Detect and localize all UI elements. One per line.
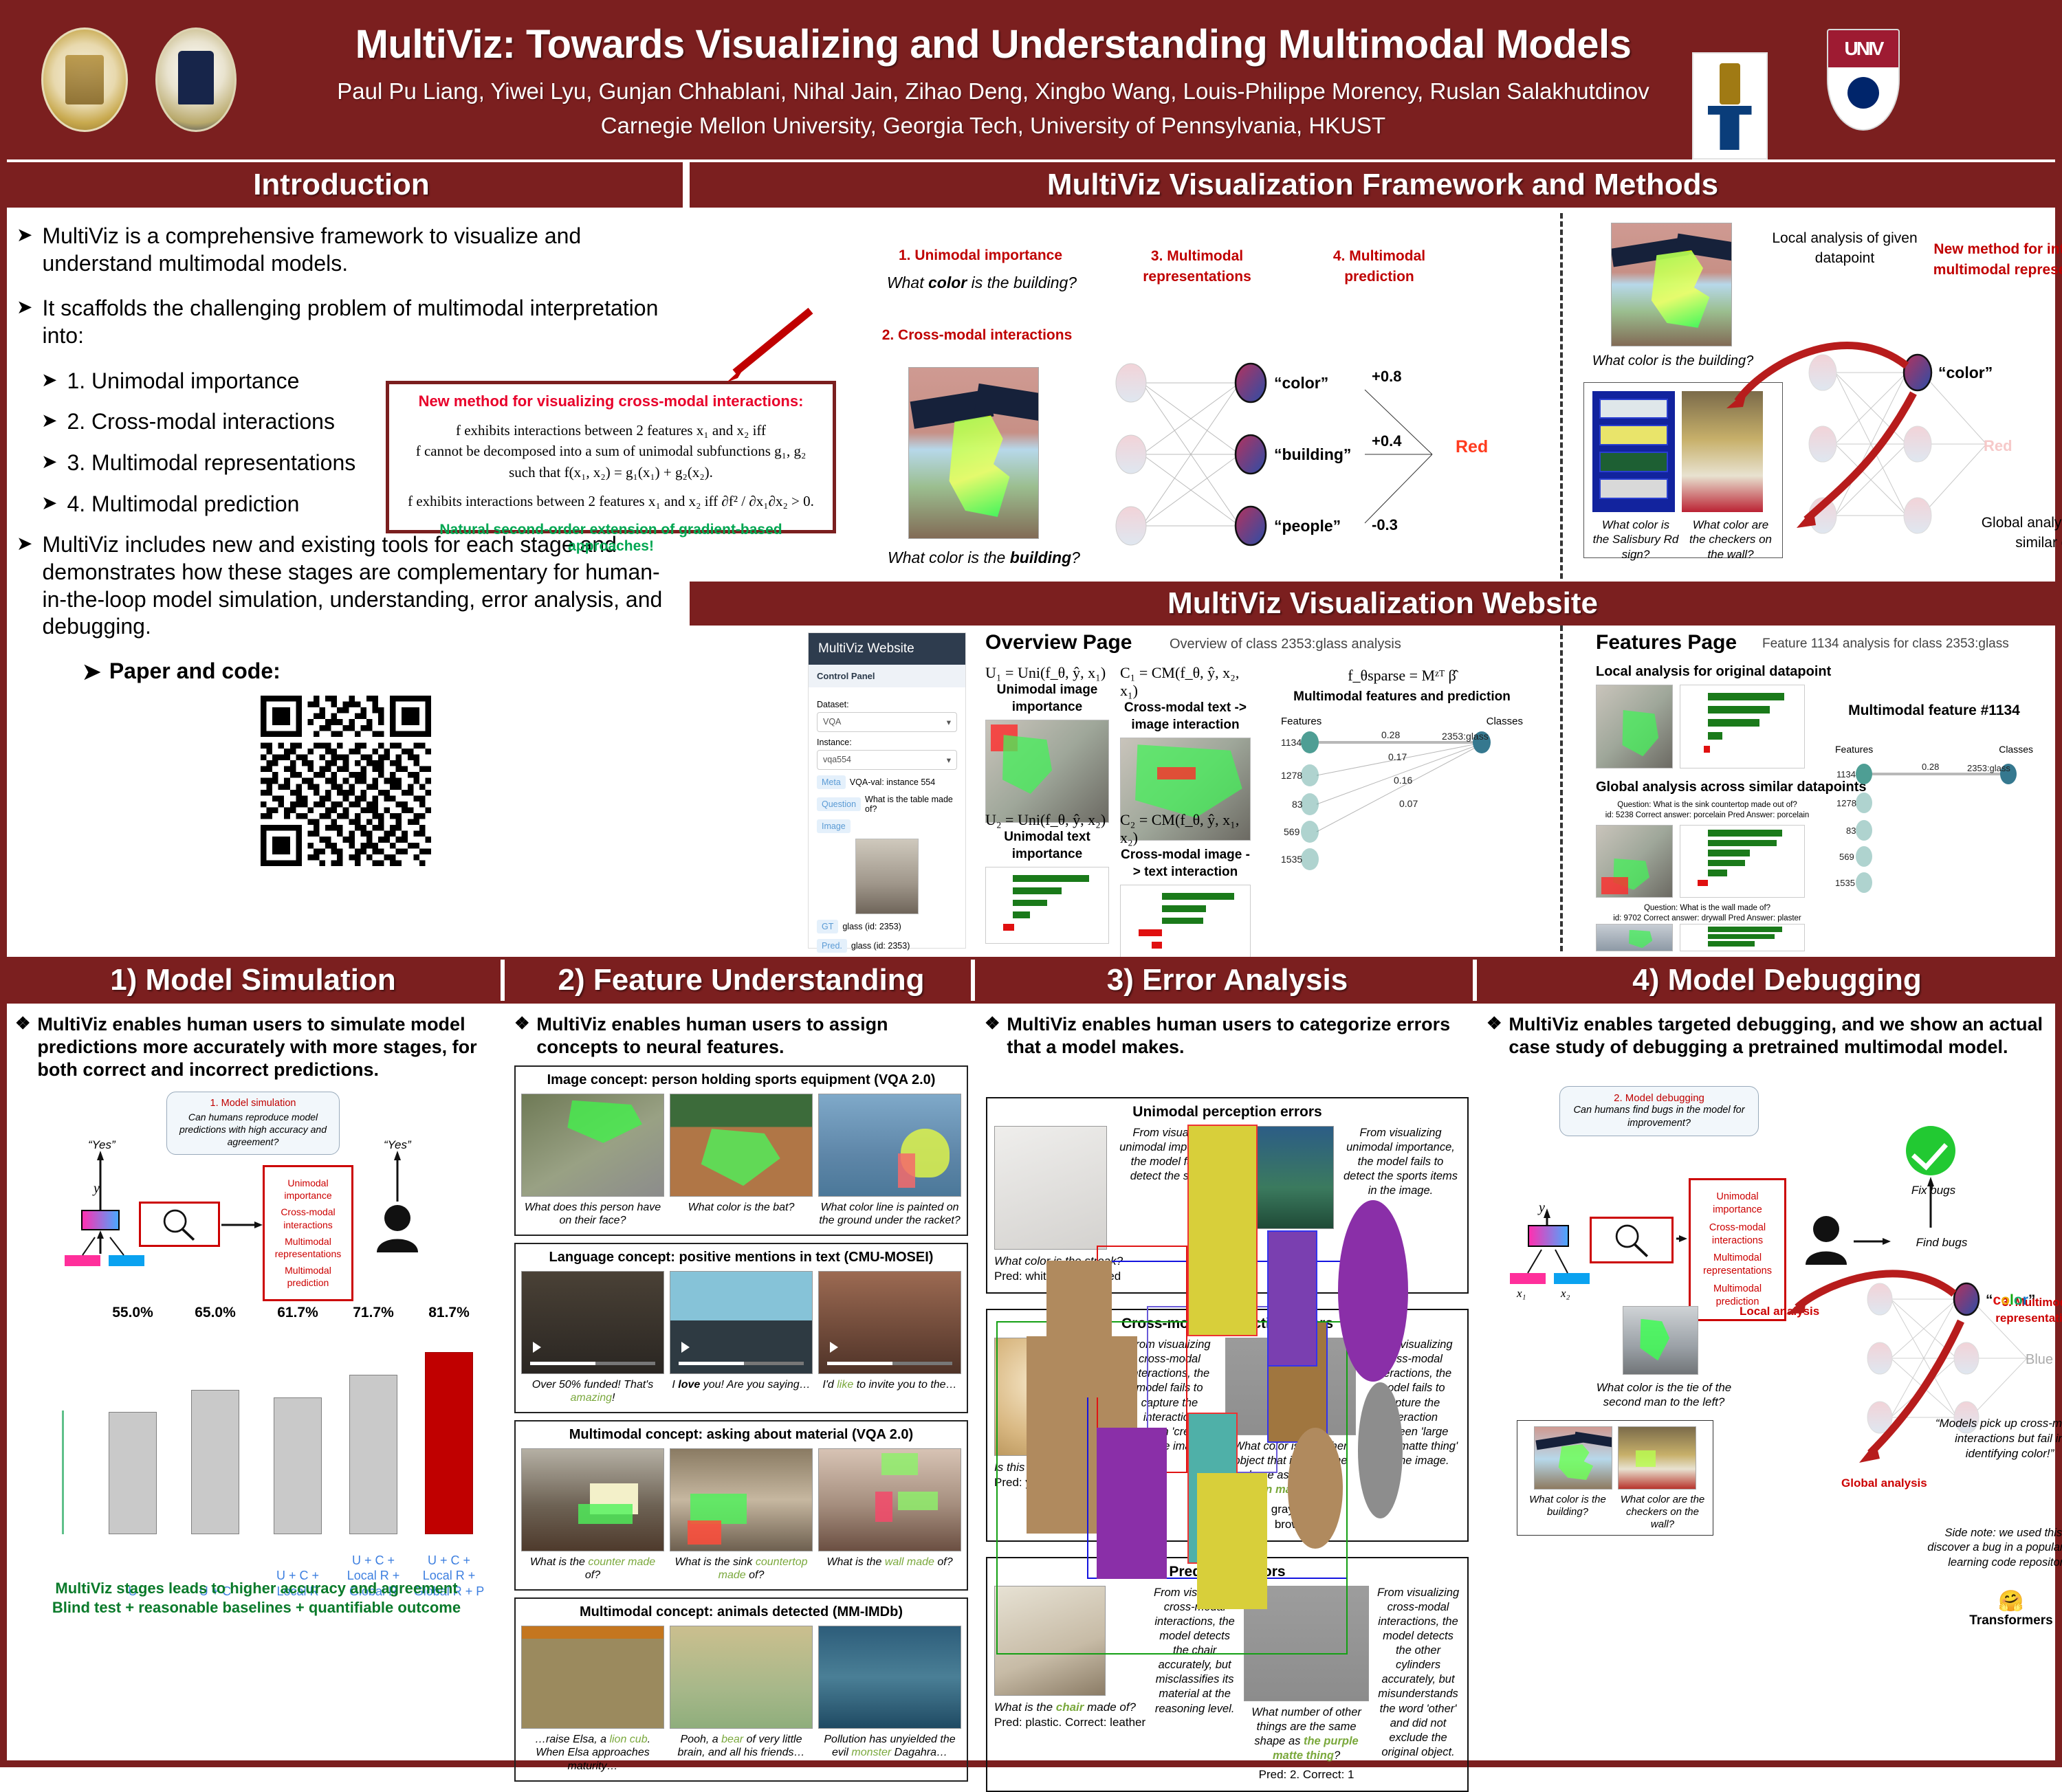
multimodal-model-bar [81, 1210, 120, 1230]
u1-block: U₁ = Uni(f_θ, ŷ, x₁) Unimodal image impo… [985, 664, 1109, 823]
prediction-errors-box: Prediction errors What is the chair made… [986, 1557, 1469, 1792]
c1-label: Cross-modal text -> image interaction [1120, 700, 1251, 733]
yes-label-right: “Yes” [384, 1138, 411, 1152]
bar-value-2: 61.7% [260, 1305, 336, 1321]
language-caption-2: I love you! Are you saying… [670, 1378, 813, 1392]
features-page-subtitle: Feature 1134 analysis for class 2353:gla… [1762, 637, 2009, 652]
u2-label: Unimodal text importance [985, 829, 1109, 863]
unimodal-errors-right-text: From visualizing unimodal importance, th… [1341, 1126, 1460, 1199]
debug-callout-text: Can humans find bugs in the model for im… [1567, 1104, 1751, 1130]
classes-column-header: Classes [1487, 716, 1523, 727]
animal-poster-1 [521, 1626, 664, 1729]
c2-bar-chart [1120, 885, 1251, 962]
bar-4 [425, 1352, 473, 1534]
similar-answer-2: id: 9702 Correct answer: drywall Pred An… [1604, 914, 1810, 924]
svg-text:1278: 1278 [1281, 770, 1302, 781]
magnifier-icon [141, 1204, 218, 1245]
similar-question-1: Question: What is the sink countertop ma… [1604, 800, 1810, 810]
intro-bullet-1: ➤ MultiViz is a comprehensive framework … [17, 223, 674, 277]
debug-x1-label: x₁ [1517, 1287, 1526, 1301]
local-analysis-caption: What color is the building? [1583, 353, 1762, 369]
u1-heatmap-image [985, 720, 1109, 823]
stage-1-question: What color is the building? [862, 274, 1102, 292]
website-control-panel[interactable]: MultiViz Website Control Panel Dataset: … [808, 632, 966, 949]
local-analysis-row [1596, 685, 1805, 768]
svg-text:+0.8: +0.8 [1372, 368, 1401, 385]
svg-text:0.16: 0.16 [1394, 775, 1412, 786]
image-row: Image [817, 819, 957, 833]
stage-2-label: 2. Cross-modal interactions [853, 327, 1101, 344]
feature-1134-graph: 11341278835691535 0.282353:glass [1831, 760, 2051, 898]
svg-text:0.07: 0.07 [1399, 798, 1418, 809]
red-arrow-icon [714, 307, 818, 389]
similar-caption-2: What color are the checkers on the wall? [1687, 518, 1774, 562]
gt-tag: GT [817, 920, 838, 933]
question-row: Question What is the table made of? [817, 795, 957, 814]
language-video-2[interactable] [670, 1271, 813, 1374]
column-divider-3 [1473, 960, 1477, 1001]
material-photo-1 [521, 1448, 664, 1551]
debug-global-caption-1: What color is the building? [1523, 1494, 1612, 1531]
dataset-value: VQA [823, 717, 841, 727]
svg-text:“people”: “people” [1274, 517, 1341, 535]
framework-image-caption: What color is the building? [860, 549, 1108, 567]
image-concept-photo-3 [818, 1094, 961, 1197]
pizza-wall-image [1682, 391, 1763, 512]
debug-local-analysis-label: Local analysis [1740, 1305, 1819, 1318]
framework-prediction: Red [1456, 437, 1488, 457]
language-video-3[interactable] [818, 1271, 961, 1374]
bedroom-image [994, 1586, 1106, 1696]
arrow-bullet-icon: ➤ [17, 531, 32, 641]
debug-local-caption: What color is the tie of the second man … [1581, 1380, 1746, 1410]
meta-row: Meta VQA-val: instance 554 [817, 775, 957, 789]
column-model-simulation: ❖ MultiViz enables human users to simula… [7, 1004, 506, 1760]
svg-text:1278: 1278 [1836, 798, 1856, 808]
introduction-body: ➤ MultiViz is a comprehensive framework … [7, 210, 684, 951]
global-row-1 [1596, 825, 1805, 898]
svg-text:“color”: “color” [1986, 1292, 2035, 1308]
global-row-2 [1596, 924, 1805, 951]
section-header-error-analysis: 3) Error Analysis [976, 957, 1478, 1004]
svg-text:1535: 1535 [1835, 878, 1855, 888]
website-panel-title: MultiViz Website [809, 633, 965, 665]
magnifier-icon [1592, 1219, 1671, 1261]
diamond-bullet-icon: ❖ [15, 1013, 30, 1081]
vertical-dashed-divider [1560, 213, 1563, 579]
image-tag: Image [817, 819, 851, 833]
intro-bullet-2: ➤ It scaffolds the challenging problem o… [17, 295, 674, 349]
multimodal-material-box: Multimodal concept: asking about materia… [514, 1420, 968, 1591]
section-header-model-simulation: 1) Model Simulation [0, 957, 506, 1004]
hugging-face-icon: 🤗 [1960, 1589, 2062, 1613]
bar-0 [109, 1412, 157, 1534]
similar-datapoints-box: What color is the Salisbury Rd sign? Wha… [1583, 382, 1783, 558]
animal-caption-2: Pooh, a bear of very little brain, and a… [670, 1733, 813, 1760]
pred-value: glass (id: 2353) [851, 941, 910, 951]
c2-label: Cross-modal image -> text interaction [1120, 847, 1251, 881]
pred-tag: Pred. [817, 939, 847, 953]
website-showcase: MultiViz Website Control Panel Dataset: … [690, 626, 2062, 951]
title-banner: MultiViz: Towards Visualizing and Unders… [0, 0, 2062, 159]
instance-thumbnail [855, 839, 919, 914]
accuracy-bar-chart: 55.0% 65.0% 61.7% 71.7% 81.7% U U + C U … [7, 1292, 506, 1622]
building-heatmap-image [908, 367, 1039, 539]
language-video-1[interactable] [521, 1271, 664, 1374]
local-datapoint-image [1596, 685, 1673, 768]
green-check-icon [1906, 1126, 1955, 1175]
global-analysis-label: Global analysis by retrieving similar da… [1968, 513, 2062, 553]
features-page-title: Features Page [1596, 631, 1737, 654]
arrow-bullet-icon: ➤ [17, 295, 32, 349]
upenn-logo: UNIV [1827, 29, 1900, 131]
multimodal-feature-title: Multimodal feature #1134 [1831, 701, 2037, 720]
modality-x2-bar [109, 1255, 144, 1266]
section-header-feature-understanding: 2) Feature Understanding [506, 957, 976, 1004]
animal-poster-2 [670, 1626, 813, 1729]
diamond-bullet-icon: ❖ [1487, 1013, 1502, 1059]
multimodal-material-title: Multimodal concept: asking about materia… [521, 1427, 961, 1443]
streak-image [994, 1126, 1107, 1250]
instance-select[interactable]: vqa554 ▾ [817, 750, 957, 770]
similar-answer-1: id: 5238 Correct answer: porcelain Pred … [1604, 810, 1810, 821]
svg-text:569: 569 [1284, 826, 1300, 837]
chart-axis-arrow [62, 1411, 64, 1534]
image-concept-photo-1 [521, 1094, 664, 1197]
debug-x2-label: x₂ [1561, 1287, 1570, 1301]
poster-root: MultiViz: Towards Visualizing and Unders… [0, 0, 2062, 1767]
svg-text:569: 569 [1839, 852, 1854, 862]
stage-multimodal-representations: Multimodal representations [267, 1235, 349, 1260]
sparse-feature-block: f_θsparse = Mᶻᵀ β̂ Multimodal features a… [1271, 667, 1533, 875]
svg-text:2353:glass: 2353:glass [1442, 731, 1489, 742]
animal-poster-3 [818, 1626, 961, 1729]
model-simulation-lead: ❖ MultiViz enables human users to simula… [7, 1004, 506, 1081]
stage-unimodal-importance: Unimodal importance [267, 1177, 349, 1202]
debug-global-caption-2: What color are the checkers on the wall? [1618, 1494, 1707, 1531]
features-column-header-2: Features [1835, 744, 1873, 755]
debug-x2-bar [1554, 1273, 1590, 1284]
unimodal-errors-title: Unimodal perception errors [994, 1104, 1460, 1120]
website-dashed-divider [1560, 626, 1563, 951]
local-analysis-heading: Local analysis for original datapoint [1596, 664, 1831, 680]
yes-label-left: “Yes” [88, 1138, 116, 1152]
instance-value: vqa554 [823, 755, 851, 765]
bar-value-0: 55.0% [95, 1305, 171, 1321]
model-simulation-note: MultiViz stages leads to higher accuracy… [7, 1579, 506, 1618]
magnifier-box [139, 1202, 220, 1247]
column-divider-1 [501, 960, 505, 1001]
debug-local-image [1623, 1306, 1698, 1375]
arrow-bullet-icon: ➤ [41, 450, 57, 477]
material-caption-1: What is the counter made of? [521, 1556, 664, 1582]
find-bugs-label: Find bugs [1900, 1236, 1983, 1250]
sparse-equation: f_θsparse = Mᶻᵀ β̂ [1271, 667, 1533, 685]
similar-question-2: Question: What is the wall made of? [1604, 903, 1810, 914]
question-tag: Question [817, 797, 861, 811]
header-divider [684, 165, 688, 205]
model-debugging-callout: 2. Model debugging Can humans find bugs … [1559, 1086, 1759, 1136]
qr-code[interactable] [261, 696, 431, 866]
georgia-tech-logo [155, 27, 237, 132]
svg-text:Blue: Blue [2026, 1352, 2053, 1367]
bar-value-4: 81.7% [411, 1305, 487, 1321]
y-output-label: y [94, 1181, 100, 1197]
arrow-bullet-icon: ➤ [41, 408, 57, 436]
bar-value-1: 65.0% [177, 1305, 253, 1321]
material-caption-3: What is the wall made of? [818, 1556, 961, 1569]
model-debugging-lead: ❖ MultiViz enables targeted debugging, a… [1478, 1004, 2062, 1059]
language-caption-3: I'd like to invite you to the… [818, 1378, 961, 1392]
error-analysis-lead: ❖ MultiViz enables human users to catego… [976, 1004, 1478, 1059]
debug-y-label: y [1539, 1200, 1545, 1216]
author-list: Paul Pu Liang, Yiwei Lyu, Gunjan Chhabla… [244, 78, 1743, 104]
stage-3-label: 3. Multimodal representations [1108, 246, 1286, 288]
multimodal-animals-box: Multimodal concept: animals detected (MM… [514, 1597, 968, 1782]
svg-text:2353:glass: 2353:glass [1967, 763, 2010, 773]
debug-magnifier-box [1590, 1217, 1674, 1263]
column-model-debugging: ❖ MultiViz enables targeted debugging, a… [1478, 1004, 2062, 1760]
arrow-bullet-icon: ➤ [41, 368, 57, 395]
gt-row: GT glass (id: 2353) [817, 920, 957, 933]
street-signs-image [1592, 391, 1675, 512]
person-icon [375, 1204, 419, 1252]
image-concept-box: Image concept: person holding sports equ… [514, 1065, 968, 1236]
instance-label: Instance: [817, 738, 957, 747]
fix-bugs-label: Fix bugs [1892, 1184, 1975, 1197]
local-analysis-label: Local analysis of given datapoint [1762, 228, 1927, 269]
similar-image-1 [1596, 825, 1673, 898]
stage-1-label: 1. Unimodal importance [867, 247, 1094, 264]
svg-text:“building”: “building” [1274, 445, 1351, 463]
multimodal-features-label: Multimodal features and prediction [1271, 689, 1533, 706]
clevr-pred-2: Pred: 2. Correct: 1 [1244, 1767, 1369, 1782]
svg-text:0.17: 0.17 [1388, 751, 1407, 762]
svg-text:Red: Red [1984, 437, 2012, 454]
neural-network-diagram: “color” “building” “people” +0.8 +0.4 -0… [1109, 358, 1467, 551]
feature-class-graph: 1134127883 5691535 0.280.170.160.07 2353… [1271, 727, 1533, 872]
material-photo-2 [670, 1448, 813, 1551]
debug-x1-bar [1510, 1273, 1546, 1284]
debug-global-analysis-label: Global analysis [1841, 1476, 1927, 1490]
model-simulation-callout: 1. Model simulation Can humans reproduce… [166, 1092, 340, 1155]
question-value: What is the table made of? [865, 795, 957, 814]
arrow-bullet-icon: ➤ [83, 659, 101, 685]
svg-text:+0.4: +0.4 [1372, 432, 1402, 450]
affiliation-list: Carnegie Mellon University, Georgia Tech… [244, 113, 1743, 139]
debug-stage-box: Unimodal importance Cross-modal interact… [1689, 1178, 1786, 1321]
diamond-bullet-icon: ❖ [985, 1013, 1000, 1059]
clevr-question-2: What number of other things are the same… [1244, 1705, 1369, 1763]
pred-row: Pred. glass (id: 2353) [817, 939, 957, 953]
framework-diagram: 1. Unimodal importance What color is the… [690, 210, 2062, 582]
svg-text:“color”: “color” [1274, 374, 1328, 392]
callout-title: 1. Model simulation [174, 1098, 332, 1109]
debug-side-note: Side note: we used this to discover a bu… [1924, 1526, 2062, 1570]
stage-multimodal-prediction: Multimodal prediction [267, 1264, 349, 1289]
arrow-bullet-icon: ➤ [17, 223, 32, 277]
bar-2 [274, 1397, 322, 1534]
debug-pizza-image [1618, 1426, 1696, 1490]
multiviz-stage-box: Unimodal importance Cross-modal interact… [263, 1165, 353, 1301]
meta-value: VQA-val: instance 554 [850, 777, 935, 787]
person-icon [1804, 1215, 1848, 1265]
u2-bar-chart [985, 867, 1109, 944]
column-divider-2 [971, 960, 975, 1001]
meta-tag: Meta [817, 775, 846, 789]
gt-value: glass (id: 2353) [842, 922, 901, 931]
svg-text:1535: 1535 [1281, 854, 1302, 865]
material-caption-2: What is the sink countertop made of? [670, 1556, 813, 1582]
cmu-logo [41, 27, 128, 132]
u1-label: Unimodal image importance [985, 682, 1109, 716]
global-analysis-heading: Global analysis across similar datapoint… [1596, 779, 1867, 795]
similar-bar-chart-2 [1680, 924, 1805, 951]
paper-and-code-label: ➤ Paper and code: [83, 659, 674, 685]
column-error-analysis: ❖ MultiViz enables human users to catego… [976, 1004, 1478, 1760]
svg-text:83: 83 [1846, 826, 1856, 836]
dataset-label: Dataset: [817, 700, 957, 709]
prediction-errors-right-text: From visualizing cross-modal interaction… [1376, 1586, 1460, 1760]
section-header-introduction: Introduction [0, 162, 683, 208]
debug-building-image [1534, 1426, 1612, 1490]
arrow-bullet-icon: ➤ [41, 491, 57, 518]
material-photo-3 [818, 1448, 961, 1551]
image-concept-caption-2: What color is the bat? [670, 1201, 813, 1215]
overview-page-title: Overview Page [985, 631, 1132, 654]
similar-bar-chart-1 [1680, 825, 1805, 898]
image-concept-caption-1: What does this person have on their face… [521, 1201, 664, 1228]
column-feature-understanding: ❖ MultiViz enables human users to assign… [506, 1004, 976, 1760]
svg-text:83: 83 [1292, 799, 1303, 810]
control-panel-label: Control Panel [809, 665, 965, 687]
chevron-down-icon: ▾ [947, 755, 951, 765]
debug-global-box: What color is the building? What color a… [1517, 1420, 1713, 1536]
u2-block: U₂ = Uni(f_θ, ŷ, x₂) Unimodal text impor… [985, 811, 1109, 944]
new-method-representations-label: New method for interpreting multimodal r… [1927, 239, 2062, 281]
language-concept-box: Language concept: positive mentions in t… [514, 1243, 968, 1413]
feature-understanding-lead: ❖ MultiViz enables human users to assign… [506, 1004, 976, 1059]
similar-image-2 [1596, 924, 1673, 951]
hkust-logo [1692, 52, 1768, 159]
bedroom-qa: What is the chair made of? Pred: plastic… [994, 1700, 1145, 1730]
debug-quote: “Models pick up cross-modal interactions… [1933, 1416, 2062, 1461]
overview-page-subtitle: Overview of class 2353:glass analysis [1170, 637, 1401, 652]
svg-text:-0.3: -0.3 [1372, 516, 1398, 533]
bar-1 [191, 1390, 239, 1534]
stage-cross-modal-interactions: Cross-modal interactions [267, 1206, 349, 1230]
image-concept-title: Image concept: person holding sports equ… [521, 1072, 961, 1088]
debug-stage-representations: Multimodal representations [1693, 1252, 1781, 1278]
huggingface-badge: 🤗 Transformers [1960, 1589, 2062, 1628]
chevron-down-icon: ▾ [947, 717, 951, 727]
multimodal-animals-title: Multimodal concept: animals detected (MM… [521, 1604, 961, 1620]
u2-equation: U₂ = Uni(f_θ, ŷ, x₂) [985, 811, 1109, 829]
debug-stage-crossmodal: Cross-modal interactions [1693, 1221, 1781, 1248]
section-header-framework: MultiViz Visualization Framework and Met… [690, 162, 2062, 208]
section-header-website: MultiViz Visualization Website [690, 582, 2062, 626]
callout-text: Can humans reproduce model predictions w… [174, 1111, 332, 1149]
similar-caption-1: What color is the Salisbury Rd sign? [1592, 518, 1679, 562]
debug-stage-unimodal: Unimodal importance [1693, 1191, 1781, 1217]
debug-model-bar [1528, 1225, 1569, 1247]
svg-text:“color”: “color” [1938, 364, 1993, 381]
language-concept-title: Language concept: positive mentions in t… [521, 1250, 961, 1265]
dataset-select[interactable]: VQA ▾ [817, 712, 957, 732]
section-header-model-debugging: 4) Model Debugging [1478, 957, 2062, 1004]
image-concept-caption-3: What color line is painted on the ground… [818, 1201, 961, 1228]
language-caption-1: Over 50% funded! That's amazing! [521, 1378, 664, 1405]
bar-value-3: 71.7% [336, 1305, 411, 1321]
c1-equation: C₁ = CM(f_θ, ŷ, x₂, x₁) [1120, 664, 1251, 700]
svg-text:0.28: 0.28 [1922, 762, 1939, 772]
c2-block: C₂ = CM(f_θ, ŷ, x₁, x₂) Cross-modal imag… [1120, 811, 1251, 962]
c2-equation: C₂ = CM(f_θ, ŷ, x₁, x₂) [1120, 811, 1251, 847]
svg-text:0.28: 0.28 [1381, 729, 1400, 740]
debug-callout-title: 2. Model debugging [1567, 1092, 1751, 1104]
modality-x1-bar [65, 1255, 100, 1266]
svg-text:1134: 1134 [1836, 769, 1856, 779]
image-concept-photo-2 [670, 1094, 813, 1197]
animal-caption-3: Pollution has unyielded the evil monster… [818, 1733, 961, 1760]
diamond-bullet-icon: ❖ [514, 1013, 529, 1059]
features-column-header: Features [1281, 716, 1321, 727]
u1-equation: U₁ = Uni(f_θ, ŷ, x₁) [985, 664, 1109, 682]
stage-4-label: 4. Multimodal prediction [1300, 246, 1458, 288]
local-bar-chart [1680, 685, 1805, 768]
transformers-label: Transformers [1960, 1613, 2062, 1628]
svg-text:1134: 1134 [1281, 737, 1302, 748]
bar-3 [349, 1375, 397, 1534]
local-analysis-image [1611, 223, 1732, 346]
classes-column-header-2: Classes [1999, 744, 2033, 755]
page-title: MultiViz: Towards Visualizing and Unders… [244, 21, 1743, 67]
